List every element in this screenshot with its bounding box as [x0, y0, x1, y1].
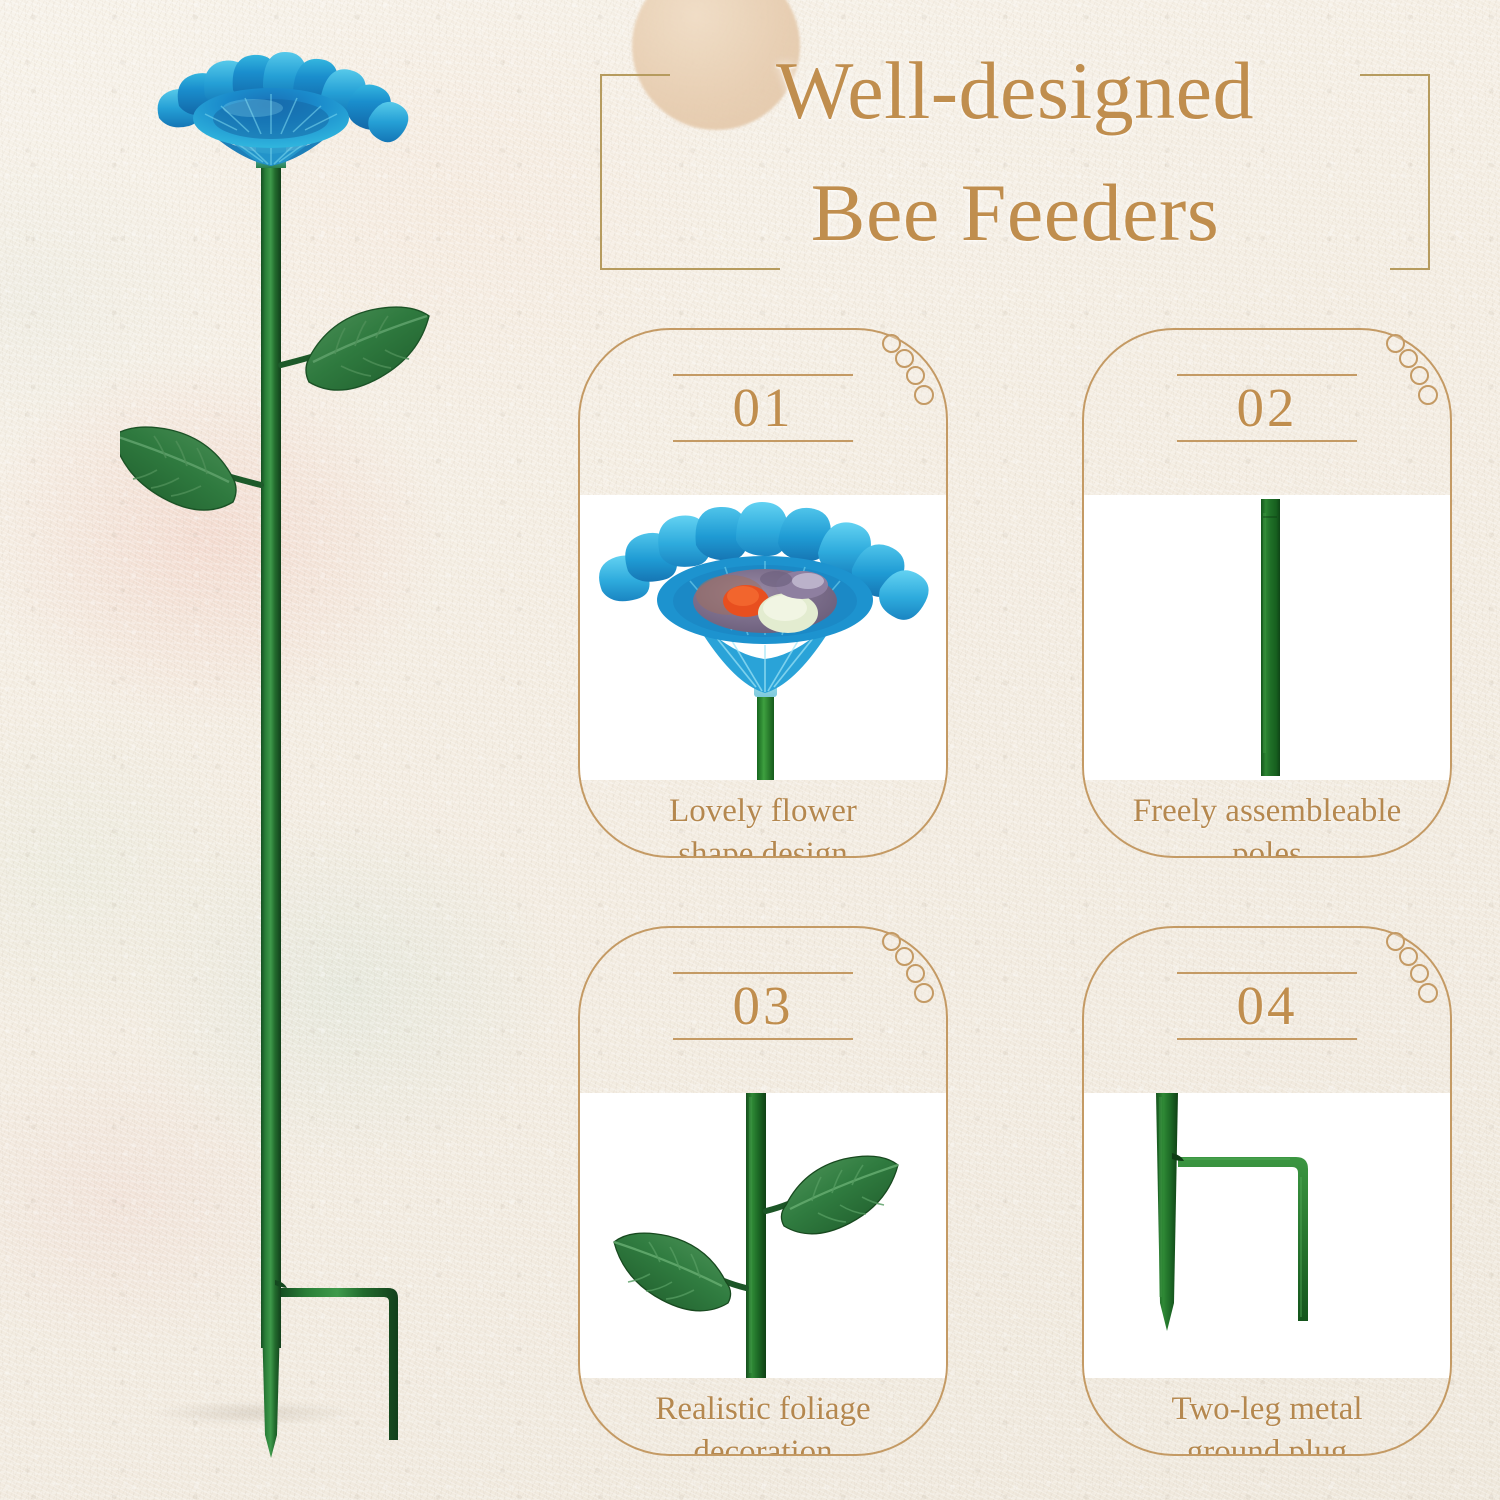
feature-card-ground-plug[interactable]: 04 [1082, 926, 1452, 1456]
feature-card-flower-shape[interactable]: 01 [578, 328, 948, 858]
card-03-caption-line-2: decoration [594, 1431, 932, 1454]
feature-card-assembleable-poles[interactable]: 02 [1082, 328, 1452, 858]
card-02-number: 02 [1084, 376, 1450, 440]
card-01-number-block: 01 [580, 374, 946, 442]
card-02-photo [1084, 495, 1450, 780]
title-block: Well-designed Bee Feeders [600, 52, 1430, 292]
green-pole-svg [1084, 495, 1450, 780]
card-01-caption: Lovely flower shape design [594, 790, 932, 856]
card-04-rule-bottom [1177, 1038, 1357, 1040]
card-02-caption: Freely assembleable poles [1098, 790, 1436, 856]
card-03-photo [580, 1093, 946, 1378]
card-01-photo [580, 495, 946, 780]
card-04-caption-line-1: Two-leg metal [1098, 1388, 1436, 1431]
card-01-caption-line-2: shape design [594, 833, 932, 856]
card-02-rule-bottom [1177, 440, 1357, 442]
card-03-number: 03 [580, 974, 946, 1038]
card-03-caption: Realistic foliage decoration [594, 1388, 932, 1454]
card-02-number-block: 02 [1084, 374, 1450, 442]
card-01-caption-line-1: Lovely flower [594, 790, 932, 833]
page-title-line-1: Well-designed [600, 48, 1430, 134]
card-04-inner: 04 [1084, 928, 1450, 1454]
card-02-caption-line-2: poles [1098, 833, 1436, 856]
two-leg-stake-svg [1084, 1093, 1450, 1378]
card-02-inner: 02 [1084, 330, 1450, 856]
card-03-rule-bottom [673, 1038, 853, 1040]
card-02-caption-line-1: Freely assembleable [1098, 790, 1436, 833]
card-01-number: 01 [580, 376, 946, 440]
card-04-number: 04 [1084, 974, 1450, 1038]
card-04-caption: Two-leg metal ground plug [1098, 1388, 1436, 1454]
feature-card-foliage[interactable]: 03 [578, 926, 948, 1456]
card-03-inner: 03 [580, 928, 946, 1454]
card-04-caption-line-2: ground plug [1098, 1431, 1436, 1454]
bracket-right-bottom-arm [1390, 268, 1430, 270]
page-title-line-2: Bee Feeders [600, 170, 1430, 256]
card-01-rule-bottom [673, 440, 853, 442]
stem-with-leaves-svg [580, 1093, 946, 1378]
bracket-left-bottom-arm [600, 268, 780, 270]
flower-dish-closeup-svg [580, 495, 946, 780]
infographic-canvas: Well-designed Bee Feeders 01 [0, 0, 1500, 1500]
hero-product-image [120, 40, 470, 1470]
card-03-caption-line-1: Realistic foliage [594, 1388, 932, 1431]
card-04-photo [1084, 1093, 1450, 1378]
card-03-number-block: 03 [580, 972, 946, 1040]
card-04-number-block: 04 [1084, 972, 1450, 1040]
hero-flower-stake-svg [120, 40, 470, 1470]
card-01-inner: 01 [580, 330, 946, 856]
